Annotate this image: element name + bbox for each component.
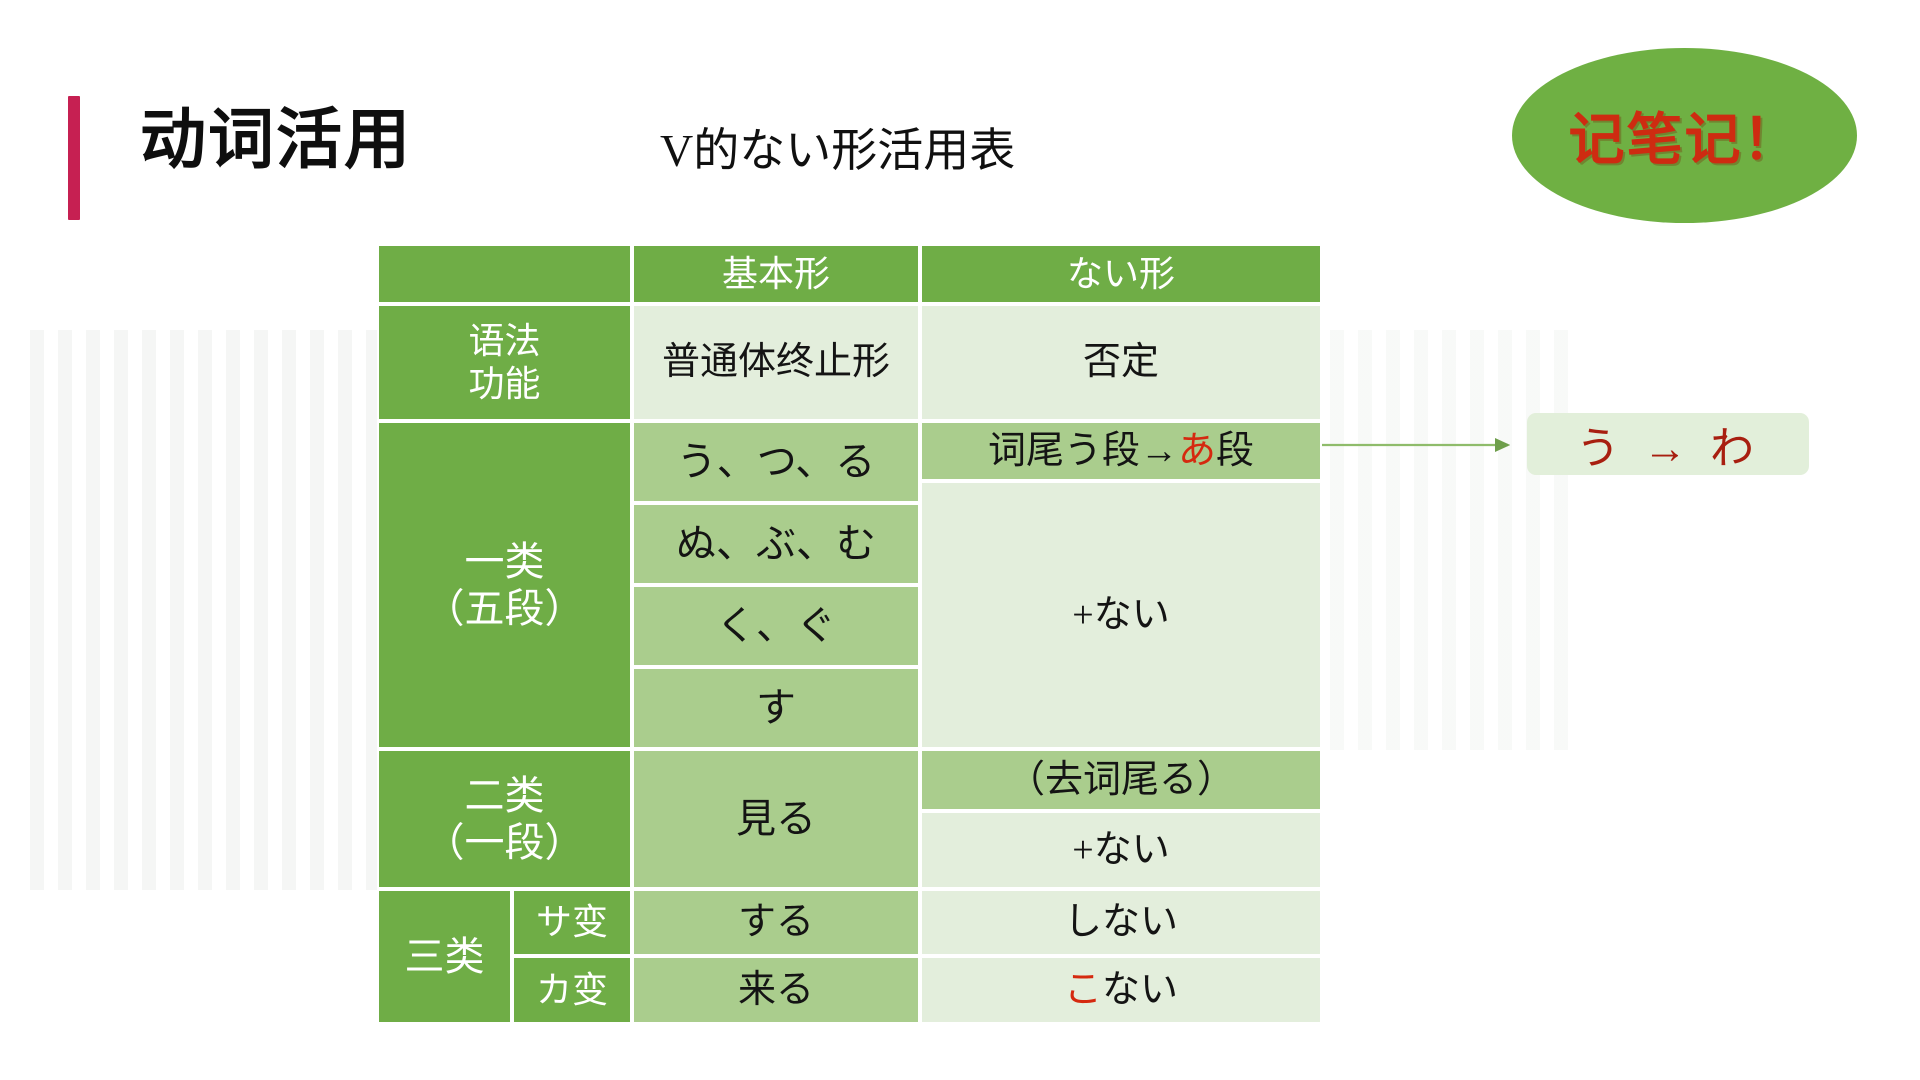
grammar-label-line2: 功能: [468, 363, 540, 405]
group1-label: 一类 （五段）: [377, 421, 632, 749]
group1-suffix-rule: +ない: [920, 481, 1322, 749]
table-header-nai-form: ない形: [920, 244, 1322, 304]
group2-label: 二类 （一段）: [377, 749, 632, 889]
group3-base-form-1: する: [632, 889, 920, 956]
table-header-corner: [377, 244, 632, 304]
group2-base-form: 見る: [632, 749, 920, 889]
group1-base-form-row-1: う、つ、る: [632, 421, 920, 503]
group1-base-form-row-2: ぬ、ぶ、む: [632, 503, 920, 585]
group1-rule-suffix: 段: [1216, 429, 1254, 474]
group3-nai-form-2: こない: [920, 956, 1322, 1024]
group1-base-form-row-3: く、ぐ: [632, 585, 920, 667]
callout-label: う → わ: [1576, 412, 1760, 476]
group3-sub-label-2: カ变: [512, 956, 632, 1024]
group2-label-line1: 二类: [465, 772, 545, 819]
row-grammar-base-form: 普通体终止形: [632, 304, 920, 421]
group1-rule: 词尾う段→あ段: [920, 421, 1322, 481]
group1-rule-highlight: あ: [1178, 429, 1216, 474]
group3-label: 三类: [377, 889, 512, 1024]
note-badge: 记笔记！: [1512, 48, 1857, 223]
callout-box: う → わ: [1527, 413, 1809, 475]
group2-suffix-rule: +ない: [920, 811, 1322, 889]
connector-arrow: [1322, 425, 1532, 465]
group1-base-form-row-4: す: [632, 667, 920, 749]
group3-nai-form-1: しない: [920, 889, 1322, 956]
group1-rule-prefix: 词尾う段→: [988, 429, 1178, 474]
group1-label-line1: 一类: [465, 538, 545, 585]
background-stripe-watermark-right: [1330, 330, 1570, 750]
group3-nai-highlight: こ: [1064, 968, 1102, 1013]
group3-nai-rest: ない: [1102, 968, 1178, 1013]
table-header-base-form: 基本形: [632, 244, 920, 304]
group1-label-line2: （五段）: [425, 585, 585, 632]
verb-conjugation-table: 基本形 ない形 语法 功能 普通体终止形 否定 一类 （五段） う、つ、る ぬ、…: [377, 244, 1322, 1024]
grammar-label-line1: 语法: [468, 320, 540, 362]
note-badge-label: 记笔记！: [1569, 95, 1801, 176]
group2-rule: （去词尾る）: [920, 749, 1322, 811]
group3-base-form-2: 来る: [632, 956, 920, 1024]
table-subtitle: V的ない形活用表: [660, 128, 1015, 174]
row-grammar-function-label: 语法 功能: [377, 304, 632, 421]
row-grammar-nai-form: 否定: [920, 304, 1322, 421]
page-title: 动词活用: [140, 106, 412, 172]
group3-sub-label-1: サ变: [512, 889, 632, 956]
title-accent-bar: [68, 96, 80, 220]
group2-label-line2: （一段）: [425, 819, 585, 866]
